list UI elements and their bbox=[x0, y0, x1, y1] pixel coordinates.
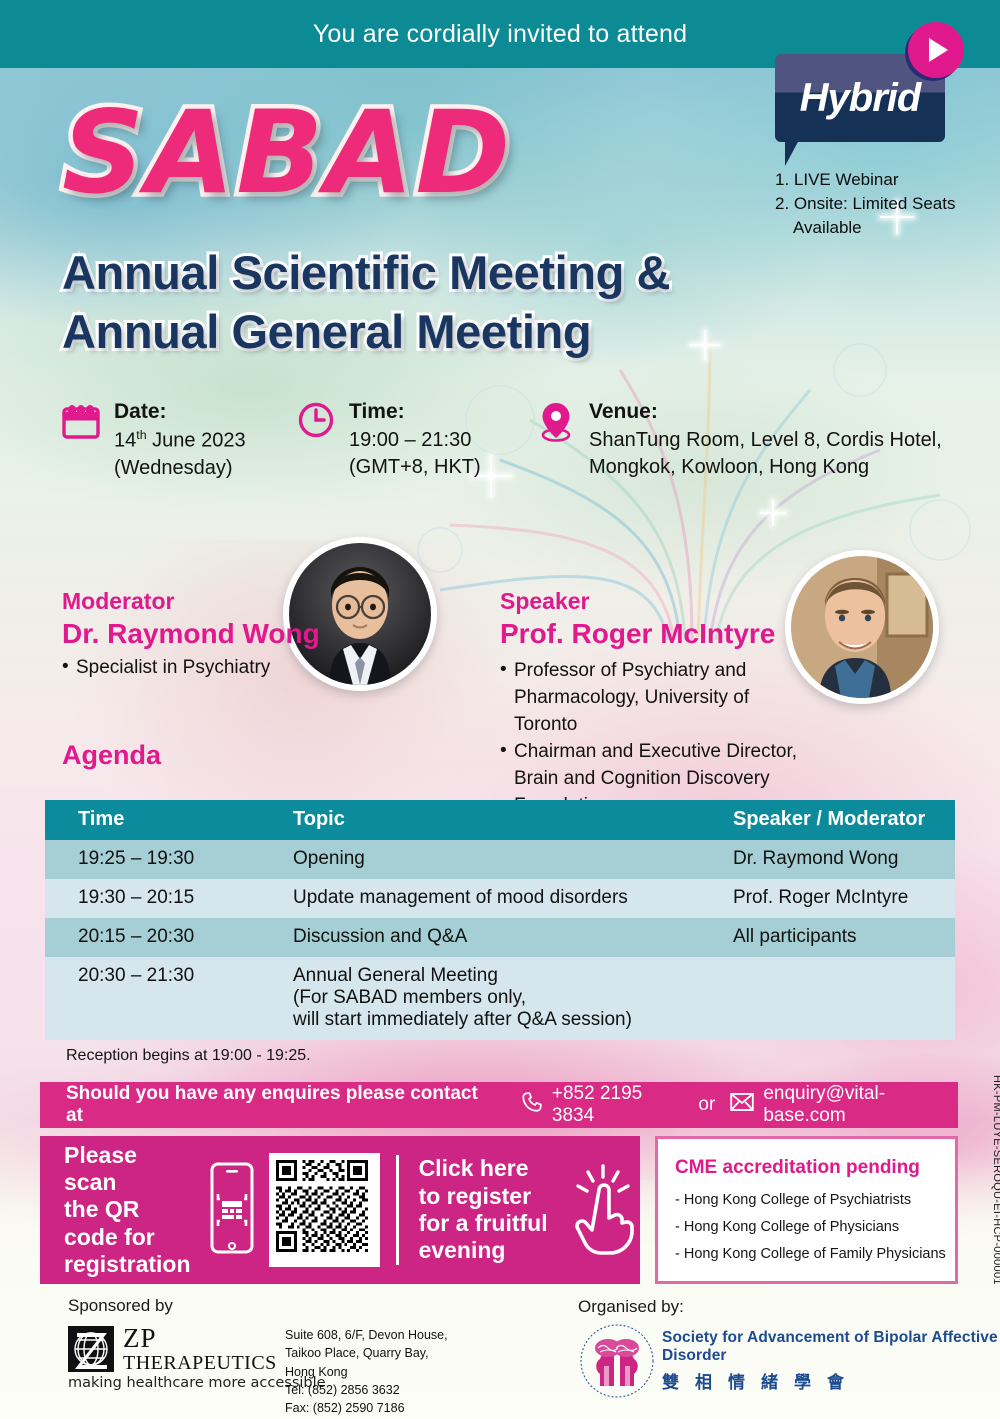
click-register-text[interactable]: Click here to register for a fruitful ev… bbox=[419, 1155, 564, 1264]
column-header-time: Time bbox=[45, 800, 293, 840]
cell-speaker bbox=[733, 957, 955, 1040]
organised-by-label: Organised by: bbox=[578, 1297, 684, 1317]
table-header-row: Time Topic Speaker / Moderator bbox=[45, 800, 955, 840]
page-title-line2: Annual General Meeting bbox=[62, 302, 670, 361]
phone-scan-icon bbox=[207, 1161, 257, 1260]
cell-time: 19:25 – 19:30 bbox=[45, 840, 293, 879]
venue-line1: ShanTung Room, Level 8, Cordis Hotel, bbox=[589, 427, 942, 454]
contact-details: +852 2195 3834 or enquiry@vital-base.com bbox=[521, 1083, 958, 1127]
event-venue-block: Venue: ShanTung Room, Level 8, Cordis Ho… bbox=[537, 398, 942, 482]
organiser-name-en: Society for Advancement of Bipolar Affec… bbox=[662, 1329, 1000, 1365]
event-info-row: Date: 14th June 2023 (Wednesday) Time: 1… bbox=[62, 398, 962, 482]
play-icon bbox=[908, 22, 964, 78]
agenda-heading: Agenda bbox=[62, 740, 161, 771]
cell-topic: Update management of mood disorders bbox=[293, 879, 733, 918]
invitation-text: You are cordially invited to attend bbox=[313, 20, 687, 49]
date-weekday: (Wednesday) bbox=[114, 455, 246, 482]
venue-label: Venue: bbox=[589, 398, 942, 426]
hybrid-mode-item: 1. LIVE Webinar bbox=[775, 168, 975, 192]
contact-email[interactable]: enquiry@vital-base.com bbox=[763, 1083, 958, 1127]
cell-topic: Discussion and Q&A bbox=[293, 918, 733, 957]
table-row: 20:30 – 21:30 Annual General Meeting (Fo… bbox=[45, 957, 955, 1040]
contact-prompt: Should you have any enquires please cont… bbox=[66, 1083, 485, 1127]
column-header-speaker: Speaker / Moderator bbox=[733, 800, 955, 840]
moderator-bullet-item: Specialist in Psychiatry bbox=[62, 655, 322, 682]
sponsor-logo: ZP THERAPEUTICS bbox=[68, 1325, 277, 1373]
material-code: HK-PM-LUYE-SEROQU-EI-HCP-000001 bbox=[991, 1075, 1000, 1285]
time-zone: (GMT+8, HKT) bbox=[349, 454, 481, 481]
poster-root: You are cordially invited to attend Hybr… bbox=[0, 0, 1000, 1419]
contact-bar: Should you have any enquires please cont… bbox=[40, 1082, 958, 1128]
cell-topic: Annual General Meeting (For SABAD member… bbox=[293, 957, 733, 1040]
cell-time: 19:30 – 20:15 bbox=[45, 879, 293, 918]
column-header-topic: Topic bbox=[293, 800, 733, 840]
zp-globe-z-icon bbox=[68, 1326, 114, 1372]
moderator-role-label: Moderator bbox=[62, 588, 174, 615]
organiser-logo: Society for Advancement of Bipolar Affec… bbox=[578, 1322, 1000, 1400]
qr-code[interactable] bbox=[269, 1153, 380, 1267]
table-row: 19:30 – 20:15 Update management of mood … bbox=[45, 879, 955, 918]
hybrid-mode-item: 2. Onsite: Limited Seats bbox=[775, 192, 975, 216]
table-row: 19:25 – 19:30 Opening Dr. Raymond Wong bbox=[45, 840, 955, 879]
speaker-bullets: Professor of Psychiatry and Pharmacology… bbox=[500, 658, 810, 820]
location-pin-icon bbox=[537, 398, 581, 449]
envelope-icon bbox=[730, 1092, 754, 1118]
cell-time: 20:15 – 20:30 bbox=[45, 918, 293, 957]
calendar-icon bbox=[62, 398, 106, 445]
pointing-hand-click-icon[interactable] bbox=[566, 1160, 640, 1261]
hybrid-modes-list: 1. LIVE Webinar 2. Onsite: Limited Seats… bbox=[775, 168, 975, 240]
organiser-name-zh: 雙相情緒學會 bbox=[662, 1368, 1000, 1393]
moderator-name: Dr. Raymond Wong bbox=[62, 618, 320, 650]
play-triangle bbox=[929, 38, 948, 62]
cme-list-item: - Hong Kong College of Family Physicians bbox=[675, 1241, 955, 1268]
event-time-text: Time: 19:00 – 21:30 (GMT+8, HKT) bbox=[349, 398, 481, 481]
date-value: 14th June 2023 bbox=[114, 427, 246, 455]
cell-speaker: All participants bbox=[733, 918, 955, 957]
cme-title: CME accreditation pending bbox=[675, 1157, 955, 1179]
event-date-block: Date: 14th June 2023 (Wednesday) bbox=[62, 398, 297, 482]
speaker-bullet-item: Professor of Psychiatry and Pharmacology… bbox=[500, 658, 810, 739]
date-label: Date: bbox=[114, 398, 246, 426]
clock-icon bbox=[297, 398, 341, 445]
event-venue-text: Venue: ShanTung Room, Level 8, Cordis Ho… bbox=[589, 398, 942, 481]
panel-divider bbox=[396, 1155, 399, 1265]
time-value: 19:00 – 21:30 bbox=[349, 427, 481, 454]
hybrid-mode-item: Available bbox=[775, 216, 975, 240]
sabad-wordmark: SABAD bbox=[62, 96, 512, 210]
phone-icon bbox=[521, 1091, 543, 1119]
agenda-table: Time Topic Speaker / Moderator 19:25 – 1… bbox=[45, 800, 955, 1040]
page-title: Annual Scientific Meeting & Annual Gener… bbox=[62, 243, 670, 361]
hybrid-bubble-tail bbox=[785, 140, 799, 166]
sponsored-by-label: Sponsored by bbox=[68, 1296, 173, 1316]
speaker-name: Prof. Roger McIntyre bbox=[500, 618, 775, 650]
sabad-brain-emblem-icon bbox=[578, 1322, 656, 1400]
event-date-text: Date: 14th June 2023 (Wednesday) bbox=[114, 398, 246, 482]
venue-line2: Mongkok, Kowloon, Hong Kong bbox=[589, 454, 942, 481]
speaker-role-label: Speaker bbox=[500, 588, 590, 615]
zp-name-line2: THERAPEUTICS bbox=[123, 1353, 277, 1373]
cell-topic: Opening bbox=[293, 840, 733, 879]
cell-time: 20:30 – 21:30 bbox=[45, 957, 293, 1040]
hybrid-badge: Hybrid bbox=[775, 22, 955, 162]
cell-speaker: Prof. Roger McIntyre bbox=[733, 879, 955, 918]
reception-note: Reception begins at 19:00 - 19:25. bbox=[66, 1047, 311, 1065]
table-row: 20:15 – 20:30 Discussion and Q&A All par… bbox=[45, 918, 955, 957]
sponsor-address: Suite 608, 6/F, Devon House, Taikoo Plac… bbox=[285, 1326, 448, 1417]
cme-list: - Hong Kong College of Psychiatrists - H… bbox=[675, 1187, 955, 1267]
organiser-name: Society for Advancement of Bipolar Affec… bbox=[662, 1329, 1000, 1393]
registration-panel: Please scan the QR code for registration bbox=[40, 1136, 640, 1284]
zp-wordmark: ZP THERAPEUTICS bbox=[123, 1325, 277, 1373]
cme-panel: CME accreditation pending - Hong Kong Co… bbox=[655, 1136, 958, 1284]
cme-list-item: - Hong Kong College of Physicians bbox=[675, 1214, 955, 1241]
scan-qr-text: Please scan the QR code for registration bbox=[64, 1142, 195, 1279]
page-title-line1: Annual Scientific Meeting & bbox=[62, 243, 670, 302]
contact-separator: or bbox=[698, 1094, 715, 1116]
time-label: Time: bbox=[349, 398, 481, 426]
moderator-bullets: Specialist in Psychiatry bbox=[62, 655, 322, 682]
cme-list-item: - Hong Kong College of Psychiatrists bbox=[675, 1187, 955, 1214]
cell-speaker: Dr. Raymond Wong bbox=[733, 840, 955, 879]
contact-phone[interactable]: +852 2195 3834 bbox=[552, 1083, 684, 1127]
zp-name-line1: ZP bbox=[123, 1325, 277, 1353]
event-time-block: Time: 19:00 – 21:30 (GMT+8, HKT) bbox=[297, 398, 537, 482]
